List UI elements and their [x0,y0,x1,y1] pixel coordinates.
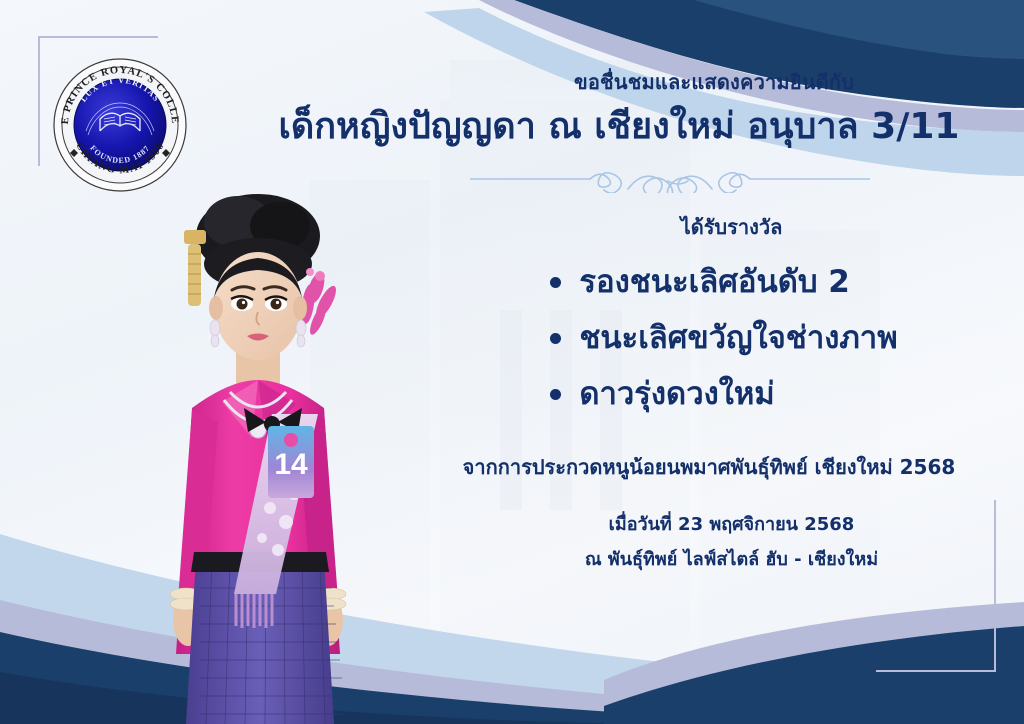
award-item: ดาวรุ่งดวงใหม่ [550,377,897,411]
congratulations-label: ขอชื่นชมและแสดงความยินดีกับ [420,70,1008,94]
contestant-number: 14 [274,448,308,481]
received-awards-label: ได้รับรางวัล [455,211,1008,243]
bullet-icon [550,333,561,344]
award-label: ดาวรุ่งดวงใหม่ [579,377,774,411]
poster-content: ขอชื่นชมและแสดงความยินดีกับ เด็กหญิงปัญญ… [360,70,1008,573]
student-name: เด็กหญิงปัญญดา ณ เชียงใหม่ อนุบาล 3/11 [230,104,1008,149]
award-item: รองชนะเลิศอันดับ 2 [550,265,897,299]
congratulation-poster: THE PRINCE ROYAL'S COLLEGE CHIANG MAI 19… [0,0,1024,724]
event-venue: ณ พันธุ์ทิพย์ ไลฟ์สไตล์ ฮับ - เชียงใหม่ [455,544,1008,573]
award-item: ชนะเลิศขวัญใจช่างภาพ [550,321,897,355]
award-label: ชนะเลิศขวัญใจช่างภาพ [579,321,897,355]
wave-decoration-bottom-right [604,584,1024,724]
student-photo: 14 [120,178,400,724]
school-seal: THE PRINCE ROYAL'S COLLEGE CHIANG MAI 19… [52,57,188,193]
contest-name: จากการประกวดหนูน้อยนพมาศพันธุ์ทิพย์ เชีย… [410,451,1008,483]
bullet-icon [550,389,561,400]
awards-list: รองชนะเลิศอันดับ 2 ชนะเลิศขวัญใจช่างภาพ … [550,265,897,433]
event-date: เมื่อวันที่ 23 พฤศจิกายน 2568 [455,509,1008,538]
bullet-icon [550,277,561,288]
award-label: รองชนะเลิศอันดับ 2 [579,265,850,299]
ornament-divider [470,167,870,197]
